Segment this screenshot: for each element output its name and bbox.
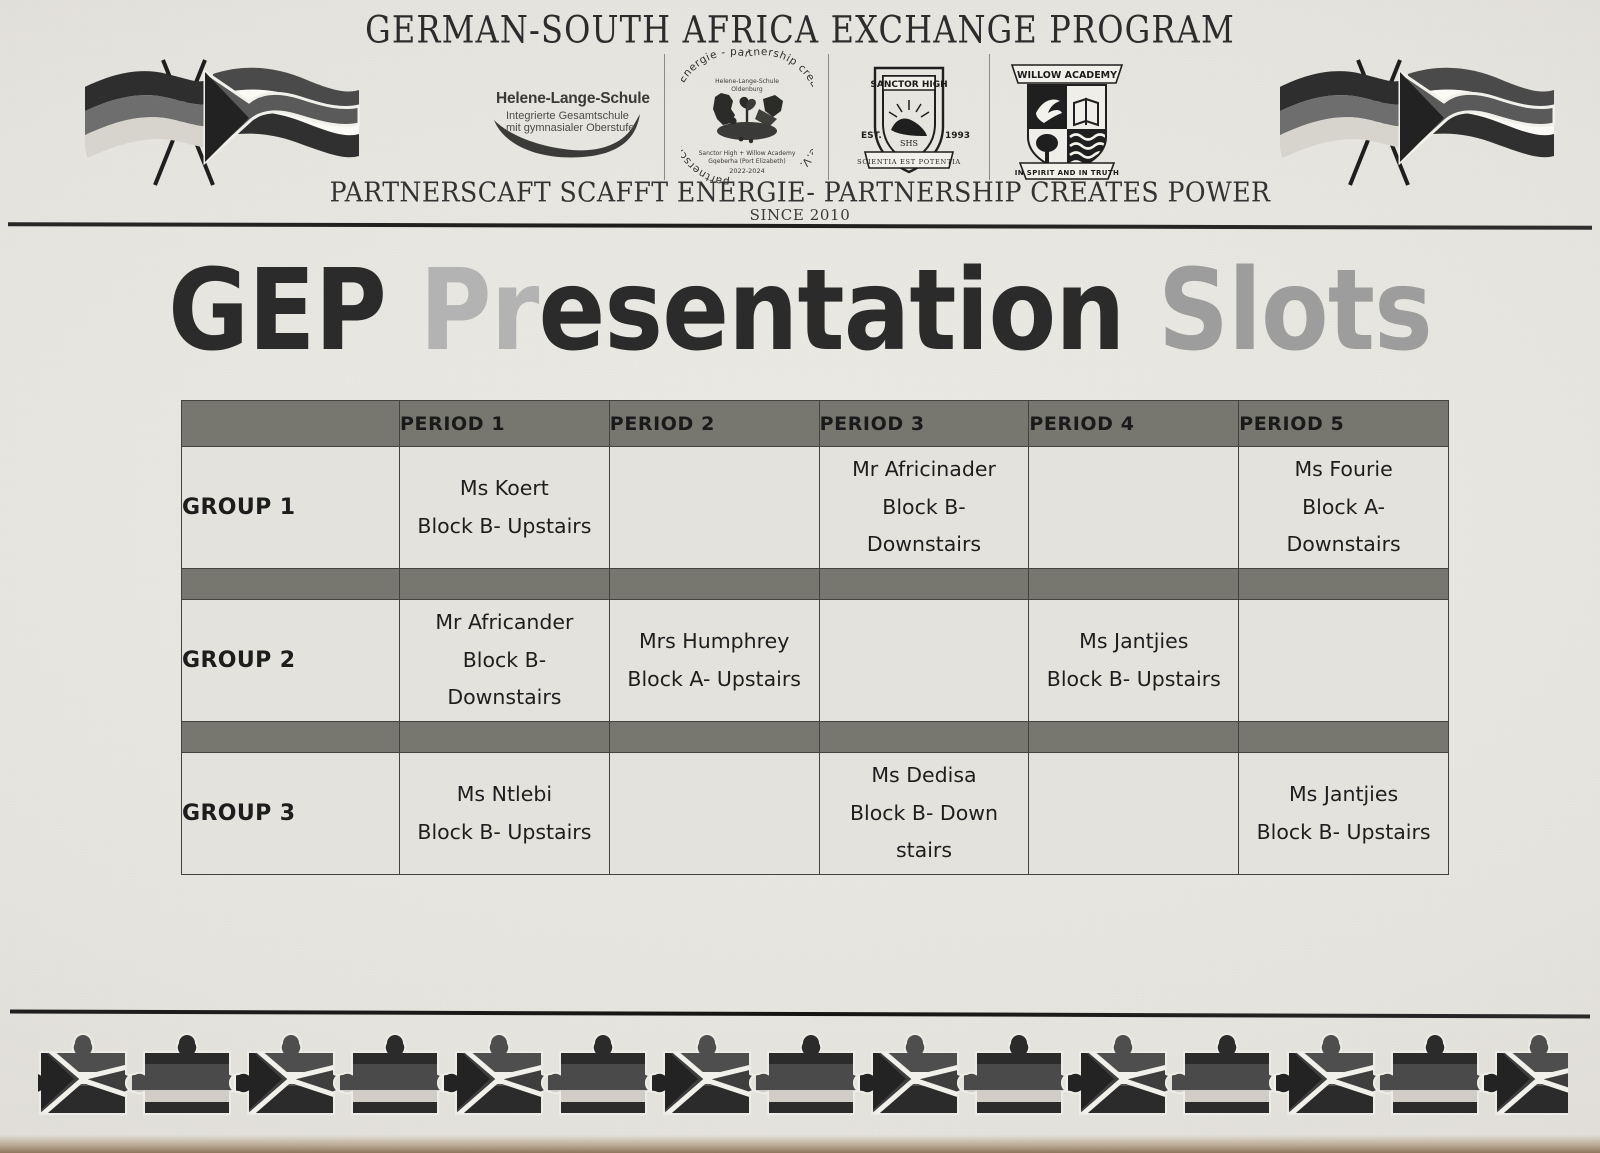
footer-divider-rule [10,1010,1590,1019]
slot-teacher: Ms Ntlebi [400,776,609,814]
seal-inner-line2: Oldenburg [731,86,763,93]
row-label-group-2: GROUP 2 [182,600,400,722]
logo-divider [664,54,665,180]
slot-venue-2: Downstairs [820,526,1029,564]
sanctor-est-year: 1993 [945,131,970,141]
presentation-slots-table-wrapper: PERIOD 1 PERIOD 2 PERIOD 3 PERIOD 4 PERI… [181,400,1448,875]
slot-venue: Block B- Down [820,795,1029,833]
willow-name: WILLOW ACADEMY [1017,70,1117,81]
crossed-flags-icon [1280,50,1555,190]
willow-academy-logo: WILLOW ACADEMY [1006,51,1128,183]
program-title: GERMAN-SOUTH AFRICA EXCHANGE PROGRAM [24,8,1576,52]
poster-header: GERMAN-SOUTH AFRICA EXCHANGE PROGRAM [0,0,1600,222]
presentation-slots-table: PERIOD 1 PERIOD 2 PERIOD 3 PERIOD 4 PERI… [181,400,1449,875]
seal-inner-line4: Gqeberha (Port Elizabeth) [708,158,786,165]
slot-g3-p5: Ms Jantjies Block B- Upstairs [1239,753,1449,875]
seal-inner-line1: Helene-Lange-Schule [715,78,779,85]
slot-g3-p2 [609,753,819,875]
slot-teacher: Ms Jantjies [1029,623,1238,661]
sanctor-est-label: EST. [861,131,882,141]
spacer-cell [1239,722,1449,753]
slot-venue: Block B- [820,489,1029,527]
corner-cell [182,401,400,447]
column-header-period-2: PERIOD 2 [609,401,819,447]
column-header-period-3: PERIOD 3 [819,401,1029,447]
seal-years: 2022-2024 [729,167,764,175]
flags-left [85,50,360,190]
slot-teacher: Ms Dedisa [820,757,1029,795]
slot-g1-p5: Ms Fourie Block A- Downstairs [1239,447,1449,569]
spacer-cell [400,569,610,600]
slot-teacher: Ms Jantjies [1239,776,1448,814]
slot-g2-p2: Mrs Humphrey Block A- Upstairs [609,600,819,722]
helene-lange-schule-logo: Helene-Lange-Schule Integrierte Gesamtsc… [488,72,648,162]
slot-venue: Block B- [400,642,609,680]
spacer-cell [819,722,1029,753]
spacer-cell [182,569,400,600]
program-since: SINCE 2010 [0,206,1600,224]
hls-subtitle-2: mit gymnasialer Oberstufe [506,122,634,134]
slot-g2-p4: Ms Jantjies Block B- Upstairs [1029,600,1239,722]
slot-g3-p4 [1029,753,1239,875]
slot-g2-p5 [1239,600,1449,722]
hls-name: Helene-Lange-Schule [496,90,650,108]
slot-teacher: Mrs Humphrey [610,623,819,661]
sanctor-motto: SCIENTIA EST POTENTIA [857,158,961,166]
table-row: GROUP 1 Ms Koert Block B- Upstairs Mr Af… [182,447,1449,569]
table-row: GROUP 2 Mr Africander Block B- Downstair… [182,600,1449,722]
spacer-cell [400,722,610,753]
slot-venue: Block B- Upstairs [400,508,609,546]
crossed-flags-icon [85,50,360,190]
table-header-row: PERIOD 1 PERIOD 2 PERIOD 3 PERIOD 4 PERI… [182,401,1449,447]
partnership-circular-logo: partnerschaft schafft Energie - partners… [681,49,813,185]
slot-g2-p1: Mr Africander Block B- Downstairs [400,600,610,722]
puzzle-pieces-icon [38,1028,1568,1128]
slot-venue: Block A- Upstairs [610,661,819,699]
slot-teacher: Mr Africinader [820,451,1029,489]
spacer-cell [819,569,1029,600]
slot-teacher: Mr Africander [400,604,609,642]
willow-academy-crest-icon: WILLOW ACADEMY [1006,51,1128,183]
spacer-cell [1029,569,1239,600]
table-row: GROUP 3 Ms Ntlebi Block B- Upstairs Ms D… [182,753,1449,875]
slot-g1-p4 [1029,447,1239,569]
slot-g3-p3: Ms Dedisa Block B- Down stairs [819,753,1029,875]
puzzle-border-decoration [38,1028,1568,1128]
slot-venue-2: Downstairs [400,679,609,717]
flags-right [1280,50,1555,190]
hls-subtitle-1: Integrierte Gesamtschule [506,110,629,122]
slot-venue: Block A- [1239,489,1448,527]
title-part-esentation: esentation [538,246,1124,376]
slot-g1-p1: Ms Koert Block B- Upstairs [400,447,610,569]
column-header-period-5: PERIOD 5 [1239,401,1449,447]
sanctor-high-crest-icon: SANCTOR HIGH SHS EST. 1993 SC [845,52,973,182]
title-part-pr: Pr [386,246,539,376]
slot-teacher: Ms Koert [400,470,609,508]
slot-venue-2: stairs [820,832,1029,870]
logo-divider [989,54,990,180]
partner-logos-row: Helene-Lange-Schule Integrierte Gesamtsc… [488,48,1128,186]
title-part-slots: Slots [1125,246,1432,376]
slot-g1-p3: Mr Africinader Block B- Downstairs [819,447,1029,569]
slot-venue: Block B- Upstairs [1239,814,1448,852]
row-spacer [182,722,1449,753]
slot-g2-p3 [819,600,1029,722]
column-header-period-1: PERIOD 1 [400,401,610,447]
table-head: PERIOD 1 PERIOD 2 PERIOD 3 PERIOD 4 PERI… [182,401,1449,447]
slot-venue: Block B- Upstairs [400,814,609,852]
slot-venue-2: Downstairs [1239,526,1448,564]
slot-g1-p2 [609,447,819,569]
logo-divider [828,54,829,180]
title-part-gep: GEP [168,246,386,376]
partnership-seal-icon: partnerschaft schafft Energie - partners… [681,49,813,185]
column-header-period-4: PERIOD 4 [1029,401,1239,447]
spacer-cell [182,722,400,753]
spacer-cell [1239,569,1449,600]
poster-sheet: GERMAN-SOUTH AFRICA EXCHANGE PROGRAM [0,0,1600,1153]
spacer-cell [1029,722,1239,753]
willow-motto: IN SPIRIT AND IN TRUTH [1015,169,1120,177]
photo-bottom-edge [0,1135,1600,1153]
table-body: GROUP 1 Ms Koert Block B- Upstairs Mr Af… [182,447,1449,875]
sanctor-high-logo: SANCTOR HIGH SHS EST. 1993 SC [845,52,973,182]
slot-venue: Block B- Upstairs [1029,661,1238,699]
row-label-group-1: GROUP 1 [182,447,400,569]
page-title: GEP Presentation Slots [96,255,1504,367]
program-subtitle: PARTNERSCAFT SCAFFT ENERGIE- PARTNERSHIP… [24,177,1576,209]
spacer-cell [609,722,819,753]
slot-g3-p1: Ms Ntlebi Block B- Upstairs [400,753,610,875]
sanctor-name: SANCTOR HIGH [871,80,948,90]
row-label-group-3: GROUP 3 [182,753,400,875]
row-spacer [182,569,1449,600]
sanctor-initials: SHS [900,139,918,148]
slot-teacher: Ms Fourie [1239,451,1448,489]
seal-inner-line3: Sanctor High + Willow Academy [698,150,795,157]
spacer-cell [609,569,819,600]
